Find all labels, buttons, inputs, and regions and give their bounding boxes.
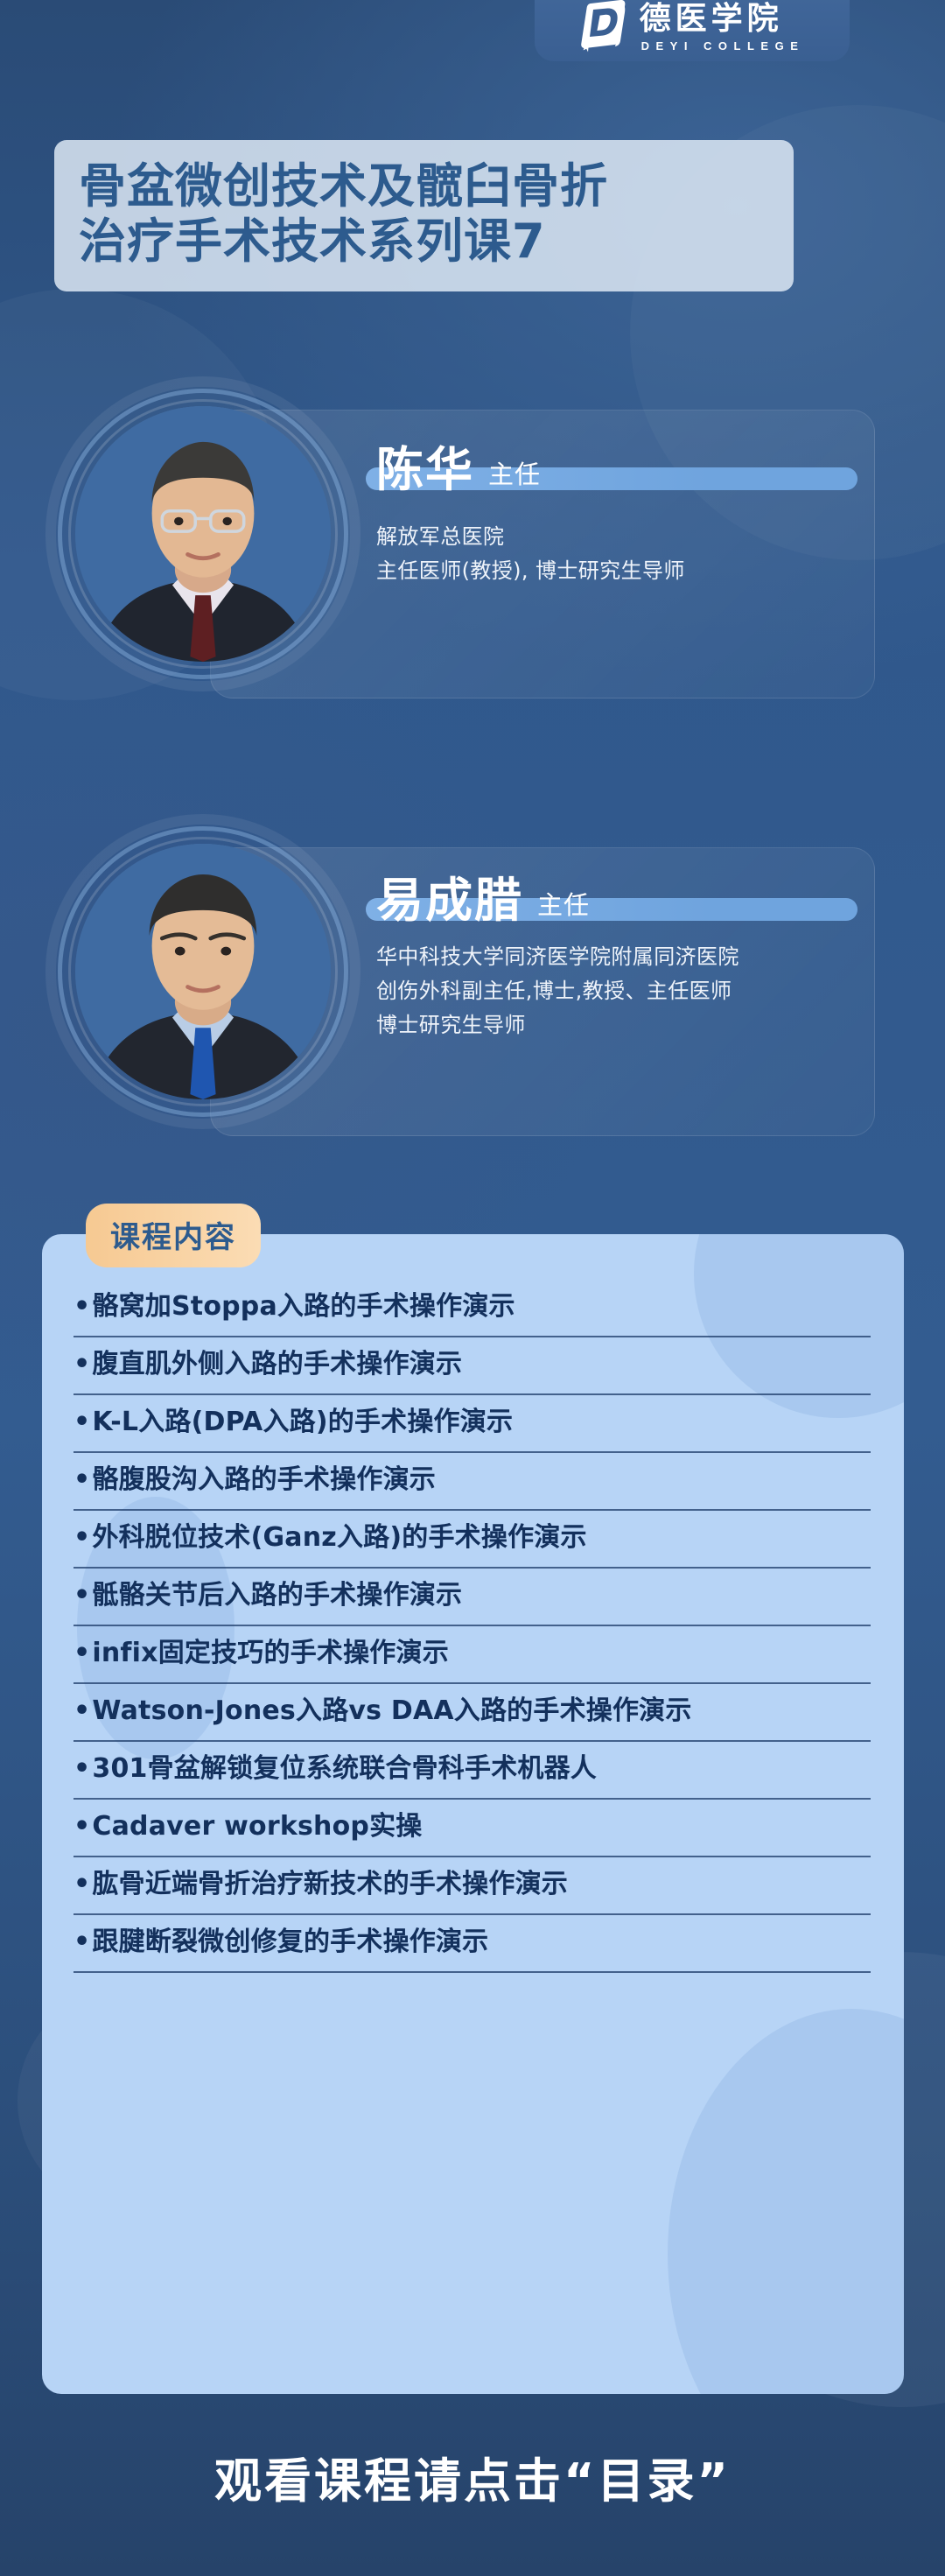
speaker-credentials-extra: 博士研究生导师 — [376, 1008, 866, 1042]
list-item[interactable]: K-L入路(DPA入路)的手术操作演示 — [72, 1395, 874, 1453]
footer-cta: 观看课程请点击“目录” — [0, 2442, 945, 2511]
list-item-label: 骶骼关节后入路的手术操作演示 — [73, 1569, 874, 1625]
list-item[interactable]: infix固定技巧的手术操作演示 — [72, 1626, 874, 1684]
list-item-label: 301骨盆解锁复位系统联合骨科手术机器人 — [73, 1742, 874, 1798]
list-item[interactable]: Watson-Jones入路vs DAA入路的手术操作演示 — [72, 1684, 874, 1742]
list-item[interactable]: Cadaver workshop实操 — [72, 1800, 874, 1857]
speaker-role: 主任 — [488, 460, 541, 494]
list-item[interactable]: 肱骨近端骨折治疗新技术的手术操作演示 — [72, 1857, 874, 1915]
poster-root: 德医学院 DEYI COLLEGE 骨盆微创技术及髋臼骨折 治疗手术技术系列课7 — [0, 0, 945, 2576]
speaker-info: 陈华 主任 解放军总医院 主任医师(教授), 博士研究生导师 — [376, 446, 866, 588]
list-item-label: 腹直肌外侧入路的手术操作演示 — [73, 1337, 874, 1393]
brand-logo: 德医学院 DEYI COLLEGE — [535, 0, 850, 61]
list-item[interactable]: 骼腹股沟入路的手术操作演示 — [72, 1453, 874, 1511]
speaker-affiliation: 解放军总医院 — [376, 520, 866, 554]
list-item-label: 肱骨近端骨折治疗新技术的手术操作演示 — [73, 1857, 874, 1913]
decorative-blob — [668, 2009, 904, 2394]
list-item-label: infix固定技巧的手术操作演示 — [73, 1626, 874, 1682]
list-item-label: 骼腹股沟入路的手术操作演示 — [73, 1453, 874, 1509]
list-item-label: 外科脱位技术(Ganz入路)的手术操作演示 — [73, 1511, 874, 1567]
course-content-card: 骼窝加Stoppa入路的手术操作演示 腹直肌外侧入路的手术操作演示 K-L入路(… — [42, 1234, 904, 2394]
list-item-label: 跟腱断裂微创修复的手术操作演示 — [73, 1915, 874, 1971]
title-line-1: 骨盆微创技术及髋臼骨折 — [79, 159, 771, 214]
brand-name-cn: 德医学院 — [640, 3, 783, 36]
divider — [73, 1971, 871, 1973]
speaker-portrait-icon — [75, 844, 331, 1099]
page-title: 骨盆微创技术及髋臼骨折 治疗手术技术系列课7 — [54, 140, 794, 291]
list-item[interactable]: 骶骼关节后入路的手术操作演示 — [72, 1569, 874, 1626]
list-item-label: K-L入路(DPA入路)的手术操作演示 — [73, 1395, 874, 1451]
speaker-credentials: 创伤外科副主任,博士,教授、主任医师 — [376, 974, 866, 1008]
book-d-logo-icon — [580, 0, 629, 53]
course-content-badge: 课程内容 — [86, 1204, 261, 1267]
speaker-affiliation: 华中科技大学同济医学院附属同济医院 — [376, 940, 866, 974]
avatar — [45, 376, 360, 691]
speaker-credentials: 主任医师(教授), 博士研究生导师 — [376, 554, 866, 588]
avatar — [45, 814, 360, 1129]
course-item-list: 骼窝加Stoppa入路的手术操作演示 腹直肌外侧入路的手术操作演示 K-L入路(… — [42, 1280, 904, 1973]
list-item[interactable]: 骼窝加Stoppa入路的手术操作演示 — [72, 1280, 874, 1337]
list-item[interactable]: 301骨盆解锁复位系统联合骨科手术机器人 — [72, 1742, 874, 1800]
list-item[interactable]: 腹直肌外侧入路的手术操作演示 — [72, 1337, 874, 1395]
list-item[interactable]: 跟腱断裂微创修复的手术操作演示 — [72, 1915, 874, 1973]
speaker-info: 易成腊 主任 华中科技大学同济医学院附属同济医院 创伤外科副主任,博士,教授、主… — [376, 877, 866, 1042]
list-item-label: 骼窝加Stoppa入路的手术操作演示 — [73, 1280, 874, 1336]
list-item[interactable]: 外科脱位技术(Ganz入路)的手术操作演示 — [72, 1511, 874, 1569]
list-item-label: Cadaver workshop实操 — [73, 1800, 874, 1856]
speaker-role: 主任 — [537, 890, 590, 924]
speaker-name: 陈华 — [376, 446, 474, 494]
brand-name-en: DEYI COLLEGE — [640, 39, 805, 53]
speaker-portrait-icon — [75, 406, 331, 662]
speaker-name: 易成腊 — [376, 877, 523, 924]
title-line-2: 治疗手术技术系列课7 — [79, 214, 771, 270]
list-item-label: Watson-Jones入路vs DAA入路的手术操作演示 — [73, 1684, 874, 1740]
